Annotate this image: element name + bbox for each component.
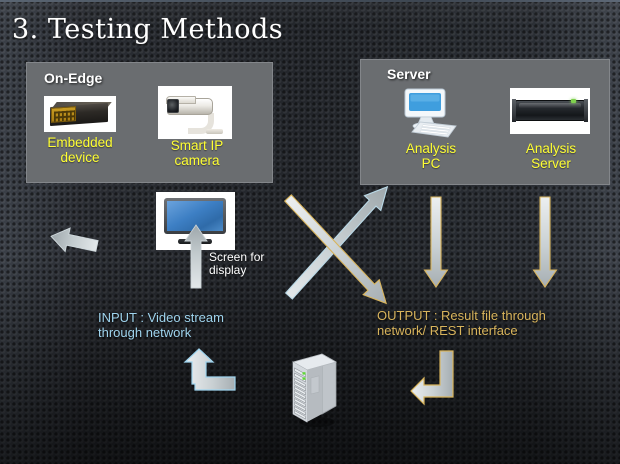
- label-input-flow: INPUT : Video stream through network: [98, 311, 288, 340]
- slide-canvas: 3. Testing Methods On-Edge Embedded devi…: [0, 0, 620, 464]
- label-analysis-pc: Analysis PC: [385, 141, 477, 171]
- arrow-diagonal-down-right: [280, 190, 394, 310]
- slide-top-border: [0, 0, 620, 2]
- page-title: 3. Testing Methods: [12, 14, 283, 45]
- arrow-down-to-analysis-server: [534, 197, 557, 287]
- group-title-on-edge: On-Edge: [44, 70, 102, 86]
- rack-server-photo: [510, 88, 590, 134]
- label-analysis-server: Analysis Server: [503, 141, 599, 171]
- flat-panel-monitor-photo: [156, 192, 235, 250]
- desktop-computer-icon: [398, 86, 460, 140]
- label-output-flow: OUTPUT : Result file through network/ RE…: [377, 309, 599, 338]
- arrow-up-left-to-onedge: [49, 224, 100, 257]
- embedded-device-photo: [44, 96, 116, 132]
- label-embedded-device: Embedded device: [32, 135, 128, 165]
- arrow-elbow-output-left: [411, 351, 453, 404]
- arrow-down-to-analysis-pc: [425, 197, 448, 287]
- arrow-elbow-input-up: [185, 349, 235, 390]
- server-tower-icon: [285, 344, 341, 430]
- arrow-diagonal-up-right: [281, 179, 396, 303]
- label-screen-for-display: Screen for display: [209, 251, 283, 278]
- label-smart-ip-camera: Smart IP camera: [152, 138, 242, 168]
- ip-camera-photo: [158, 86, 232, 139]
- group-title-server: Server: [387, 66, 431, 82]
